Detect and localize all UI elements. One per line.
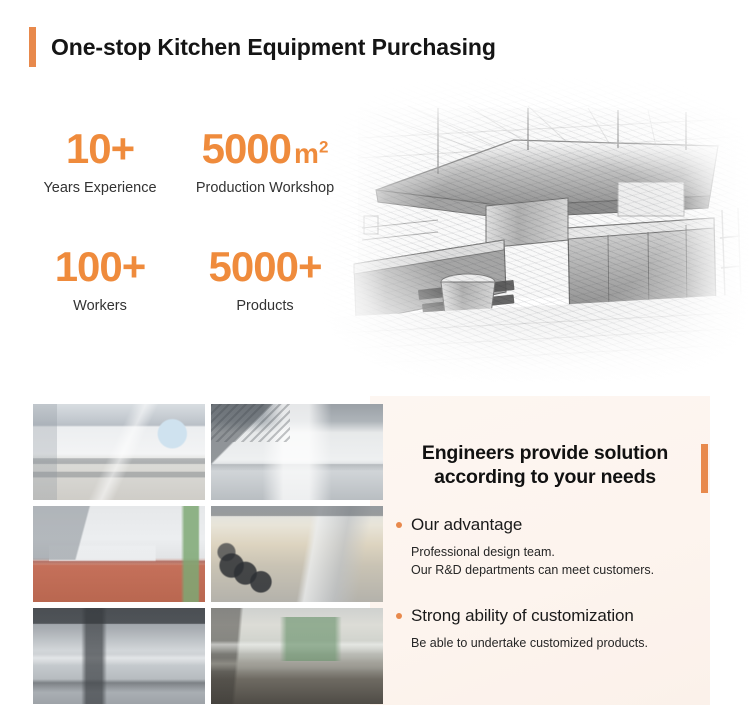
stat-label: Products — [176, 298, 354, 314]
gallery-item[interactable] — [33, 506, 205, 602]
hero-artwork — [318, 78, 750, 383]
page-title-text: One-stop Kitchen Equipment Purchasing — [51, 34, 496, 61]
right-content-block: Engineers provide solution according to … — [396, 442, 708, 653]
bullet-body: Professional design team. Our R&D depart… — [411, 543, 708, 581]
stat-production-workshop: 5000m2 Production Workshop — [176, 128, 354, 196]
hero-kitchen-illustration — [318, 78, 750, 383]
stats-row-2: 100+ Workers 5000+ Products — [24, 246, 354, 314]
hero-kitchen-sketch-image — [318, 78, 750, 383]
title-accent-bar — [29, 27, 36, 67]
right-heading-line-1: Engineers provide solution — [396, 442, 694, 466]
bullet-body-line: Professional design team. — [411, 543, 708, 562]
bullet-dot-icon — [396, 522, 402, 528]
stat-unit: m2 — [294, 138, 328, 169]
kitchen-photo-1 — [33, 404, 205, 500]
stat-years-experience: 10+ Years Experience — [24, 128, 176, 196]
gallery-item[interactable] — [211, 608, 383, 704]
page-title: One-stop Kitchen Equipment Purchasing — [29, 26, 496, 68]
bullet-body-line: Our R&D departments can meet customers. — [411, 561, 708, 580]
bullet-heading: Strong ability of customization — [396, 606, 708, 626]
bullet-heading-text: Strong ability of customization — [411, 606, 634, 626]
bullet-our-advantage: Our advantage Professional design team. … — [396, 515, 708, 581]
bullet-heading: Our advantage — [396, 515, 708, 535]
kitchen-photo-5 — [33, 608, 205, 704]
stat-label: Workers — [24, 298, 176, 314]
gallery-item[interactable] — [33, 404, 205, 500]
bullet-body: Be able to undertake customized products… — [411, 634, 708, 653]
stat-label: Years Experience — [24, 180, 176, 196]
stat-workers: 100+ Workers — [24, 246, 176, 314]
kitchen-photo-4 — [211, 506, 383, 602]
stats-row-1: 10+ Years Experience 5000m2 Production W… — [24, 128, 354, 196]
stat-label: Production Workshop — [176, 180, 354, 196]
kitchen-photo-3 — [33, 506, 205, 602]
right-heading: Engineers provide solution according to … — [396, 442, 708, 490]
promo-banner: One-stop Kitchen Equipment Purchasing — [0, 0, 750, 712]
kitchen-photo-gallery — [33, 404, 383, 704]
stat-value: 10+ — [24, 128, 176, 170]
right-heading-accent-bar — [701, 444, 708, 493]
gallery-item[interactable] — [211, 506, 383, 602]
stat-products: 5000+ Products — [176, 246, 354, 314]
right-heading-wrap: Engineers provide solution according to … — [396, 442, 708, 490]
bullet-dot-icon — [396, 613, 402, 619]
kitchen-photo-2 — [211, 404, 383, 500]
stat-value: 5000+ — [176, 246, 354, 288]
gallery-item[interactable] — [211, 404, 383, 500]
kitchen-photo-6 — [211, 608, 383, 704]
stat-value: 5000m2 — [176, 128, 354, 170]
bullet-strong-customization: Strong ability of customization Be able … — [396, 606, 708, 653]
stat-value: 100+ — [24, 246, 176, 288]
bullet-heading-text: Our advantage — [411, 515, 522, 535]
bullet-body-line: Be able to undertake customized products… — [411, 634, 708, 653]
gallery-item[interactable] — [33, 608, 205, 704]
right-heading-line-2: according to your needs — [396, 466, 694, 490]
company-stats: 10+ Years Experience 5000m2 Production W… — [24, 128, 354, 314]
